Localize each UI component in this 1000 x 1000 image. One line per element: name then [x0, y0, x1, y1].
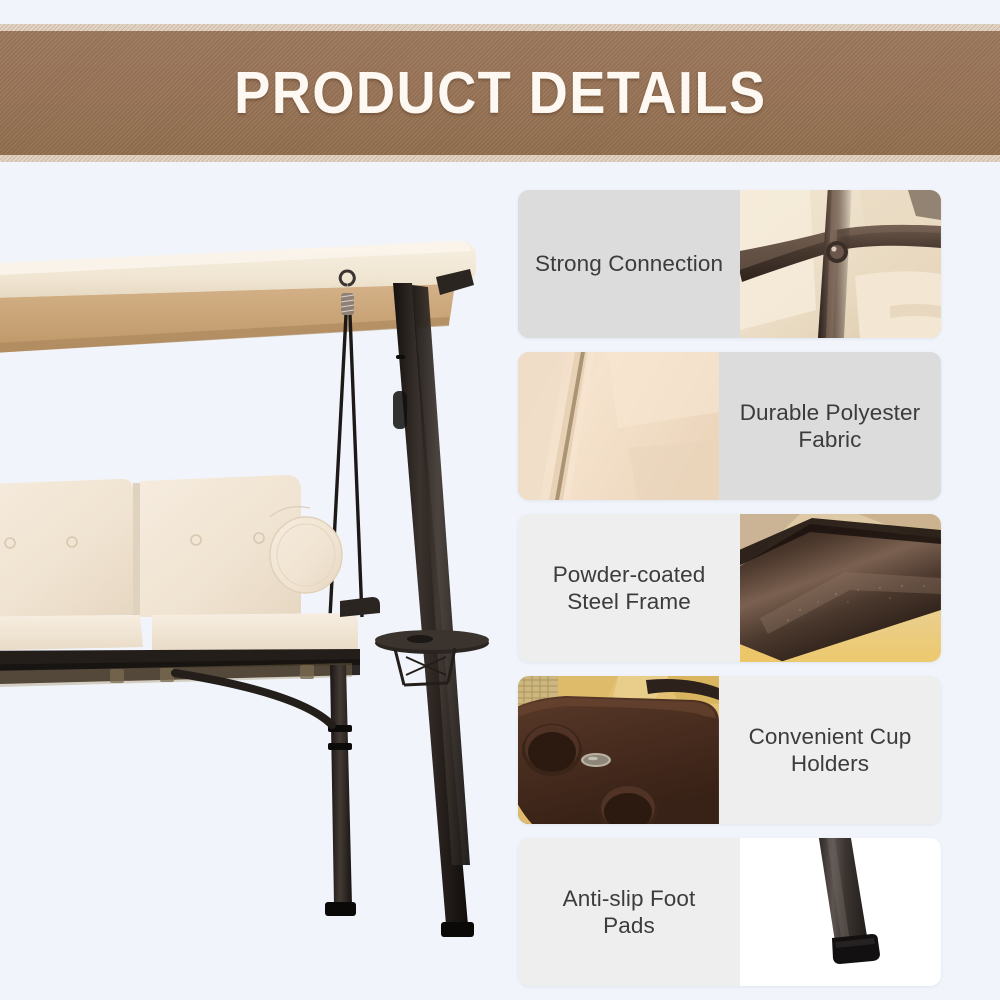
feature-card-strong-connection[interactable]: Strong Connection	[518, 190, 941, 338]
feature-label-panel: Strong Connection	[518, 190, 740, 338]
feature-card-durable-polyester-fabric[interactable]: Durable Polyester Fabric	[518, 352, 941, 500]
armrest-bracket-bolt-photo	[740, 190, 941, 338]
brown-steel-tube-photo	[740, 514, 941, 662]
banner-bottom-edge-stripe	[0, 155, 1000, 162]
feature-card-anti-slip-foot-pads[interactable]: Anti-slip Foot Pads	[518, 838, 941, 986]
anti-slip-foot-pad	[441, 922, 474, 937]
feature-label-text: Strong Connection	[535, 250, 723, 277]
seat-cushions	[0, 613, 358, 651]
feature-label-text: Powder-coated Steel Frame	[553, 561, 706, 616]
back-cushions	[0, 475, 301, 617]
beige-canopy-fabric-photo	[518, 352, 719, 500]
hero-product-photo	[0, 165, 505, 1000]
feature-label-panel: Durable Polyester Fabric	[719, 352, 941, 500]
feature-label-panel: Anti-slip Foot Pads	[518, 838, 740, 986]
porch-swing-illustration	[0, 165, 505, 1000]
banner-bar: PRODUCT DETAILS	[0, 31, 1000, 155]
banner-top-edge-stripe	[0, 24, 1000, 31]
feature-card-list: Strong Connection	[518, 190, 941, 1000]
feature-label-panel: Convenient Cup Holders	[719, 676, 941, 824]
cup-holder-tray-photo	[518, 676, 719, 824]
header-banner: PRODUCT DETAILS	[0, 24, 1000, 162]
feature-label-panel: Powder-coated Steel Frame	[518, 514, 740, 662]
feature-label-text: Convenient Cup Holders	[749, 723, 912, 778]
feature-label-text: Anti-slip Foot Pads	[563, 885, 696, 940]
feature-card-convenient-cup-holders[interactable]: Convenient Cup Holders	[518, 676, 941, 824]
feature-card-powder-coated-steel-frame[interactable]: Powder-coated Steel Frame	[518, 514, 941, 662]
page-title: PRODUCT DETAILS	[234, 59, 766, 127]
leg-foot-pad-photo	[740, 838, 941, 986]
feature-label-text: Durable Polyester Fabric	[740, 399, 921, 454]
